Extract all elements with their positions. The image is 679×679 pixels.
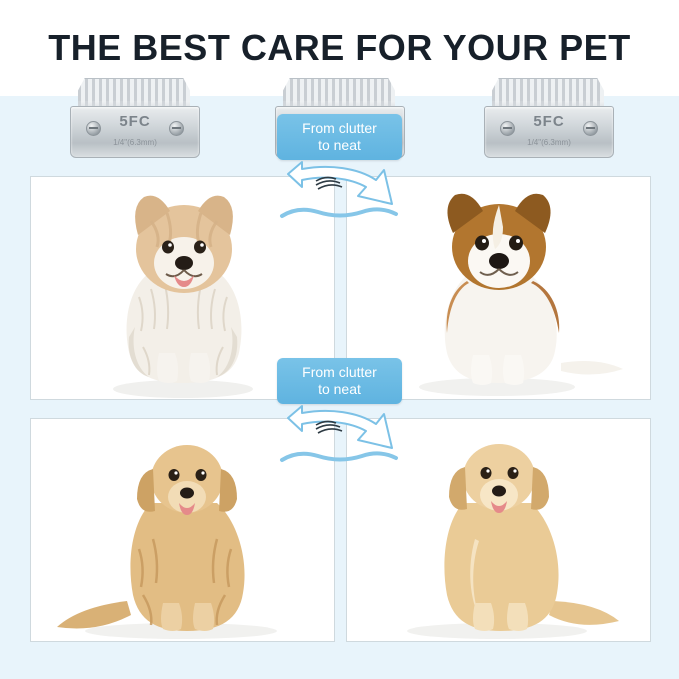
curved-arrow-wrap (272, 160, 407, 230)
blade-body: 5FC 1/4"(6.3mm) (70, 106, 200, 158)
transition-badge: From clutter to neat (277, 114, 402, 160)
badge-line-2: to neat (318, 137, 361, 153)
badge-line-1: From clutter (302, 364, 377, 380)
blade-body: 5FC 1/4"(6.3mm) (484, 106, 614, 158)
curved-arrow-icon (272, 160, 407, 230)
product-infographic: THE BEST CARE FOR YOUR PET 5FC 1/4"(6.3m… (0, 0, 679, 679)
badge-line-2: to neat (318, 381, 361, 397)
transition-group-1: From clutter to neat (272, 114, 407, 234)
transition-badge-text: From clutter to neat (302, 364, 377, 398)
blade-sublabel: 1/4"(6.3mm) (485, 138, 613, 147)
blade-label: 5FC (71, 113, 199, 130)
transition-badge-text: From clutter to neat (302, 120, 377, 154)
clipper-blade-1: 5FC 1/4"(6.3mm) (70, 78, 198, 162)
badge-line-1: From clutter (302, 120, 377, 136)
curved-arrow-wrap (272, 404, 407, 474)
blade-label: 5FC (485, 113, 613, 130)
transition-group-2: From clutter to neat (272, 358, 407, 478)
headline-band: THE BEST CARE FOR YOUR PET (0, 0, 679, 88)
transition-badge: From clutter to neat (277, 358, 402, 404)
clipper-blade-3: 5FC 1/4"(6.3mm) (484, 78, 612, 162)
page-title: THE BEST CARE FOR YOUR PET (0, 27, 679, 69)
curved-arrow-icon (272, 404, 407, 474)
blade-sublabel: 1/4"(6.3mm) (71, 138, 199, 147)
